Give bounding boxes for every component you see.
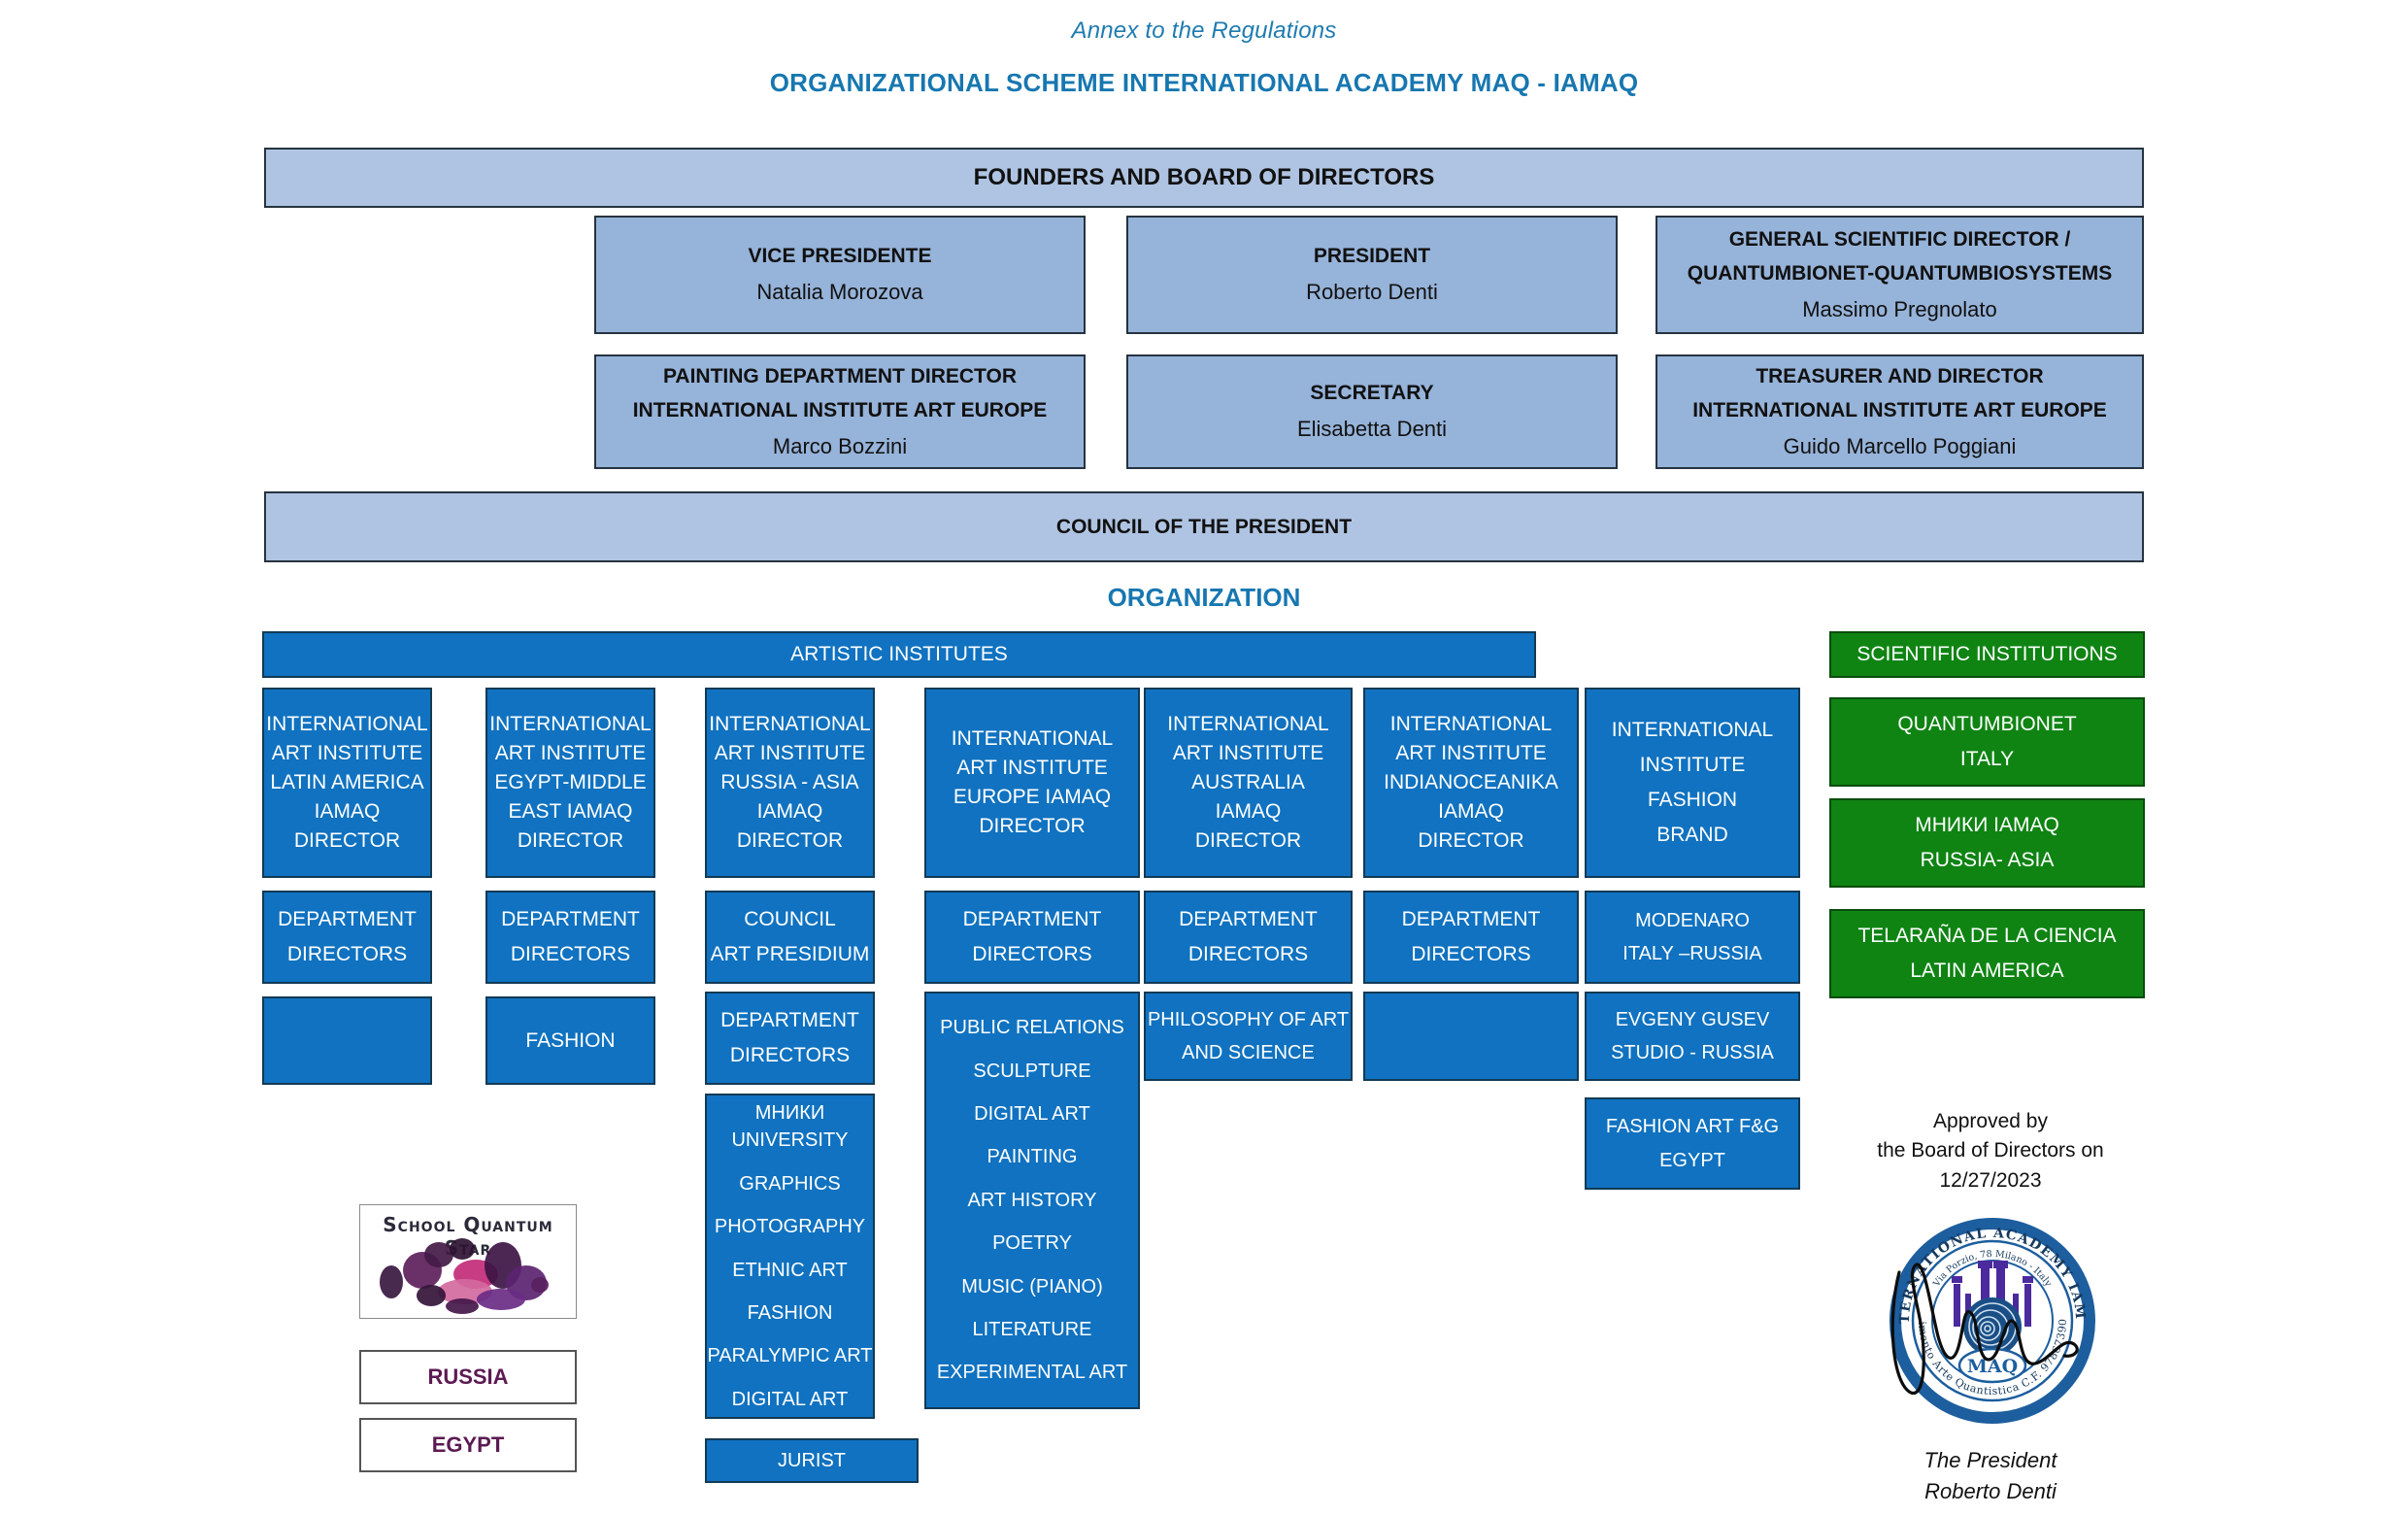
board-member-box[interactable]: PRESIDENT Roberto Denti — [1126, 216, 1618, 334]
role-line-1: PRESIDENT — [1128, 242, 1616, 271]
logo-blob — [531, 1277, 549, 1293]
president-label: The President — [1835, 1445, 2146, 1476]
role-line-1: SECRETARY — [1128, 379, 1616, 408]
empty-card[interactable] — [1363, 992, 1579, 1081]
evgeny-gusev-card[interactable]: EVGENY GUSEV STUDIO - RUSSIA — [1585, 992, 1800, 1081]
org-chart-page: Annex to the Regulations ORGANIZATIONAL … — [0, 0, 2408, 1516]
annex-subtitle: Annex to the Regulations — [0, 17, 2408, 45]
country-card-russia[interactable]: RUSSIA — [359, 1350, 577, 1404]
disciplines-card[interactable]: PUBLIC RELATIONS SCULPTURE DIGITAL ART P… — [924, 992, 1140, 1409]
scientific-card[interactable]: QUANTUMBIONET ITALY — [1829, 697, 2145, 787]
role-line-2: INTERNATIONAL INSTITUTE ART EUROPE — [596, 396, 1084, 425]
institute-card[interactable]: INTERNATIONAL ART INSTITUTE AUSTRALIA IA… — [1144, 688, 1353, 878]
school-quantum-star-logo: School Quantum Star — [359, 1204, 577, 1319]
person-name: Roberto Denti — [1128, 277, 1616, 307]
scientific-card[interactable]: МНИКИ IAMAQ RUSSIA- ASIA — [1829, 798, 2145, 888]
department-directors-card[interactable]: DEPARTMENT DIRECTORS — [705, 992, 875, 1085]
approval-date: 12/27/2023 — [1835, 1166, 2146, 1196]
person-name: Natalia Morozova — [596, 277, 1084, 307]
scientific-card[interactable]: TELARAÑA DE LA CIENCIA LATIN AMERICA — [1829, 909, 2145, 998]
logo-blob — [380, 1265, 403, 1298]
department-directors-card[interactable]: DEPARTMENT DIRECTORS — [924, 891, 1140, 984]
council-art-presidium-card[interactable]: COUNCIL ART PRESIDIUM — [705, 891, 875, 984]
page-title: ORGANIZATIONAL SCHEME INTERNATIONAL ACAD… — [0, 68, 2408, 98]
artistic-institutes-banner: ARTISTIC INSTITUTES — [262, 631, 1536, 678]
modenaro-card[interactable]: MODENARO ITALY –RUSSIA — [1585, 891, 1800, 984]
role-line-1: VICE PRESIDENTE — [596, 242, 1084, 271]
board-member-box[interactable]: SECRETARY Elisabetta Denti — [1126, 354, 1618, 469]
empty-card[interactable] — [262, 996, 432, 1085]
jurist-card[interactable]: JURIST — [705, 1438, 919, 1483]
logo-blob — [477, 1289, 525, 1310]
organization-label: ORGANIZATION — [0, 583, 2408, 613]
role-line-2: INTERNATIONAL INSTITUTE ART EUROPE — [1657, 396, 2142, 425]
department-directors-card[interactable]: DEPARTMENT DIRECTORS — [1363, 891, 1579, 984]
department-directors-card[interactable]: DEPARTMENT DIRECTORS — [485, 891, 655, 984]
role-line-2: QUANTUMBIONET-QUANTUMBIOSYSTEMS — [1657, 259, 2142, 288]
institute-card[interactable]: INTERNATIONAL ART INSTITUTE EUROPE IAMAQ… — [924, 688, 1140, 878]
approval-line-2: the Board of Directors on — [1835, 1136, 2146, 1165]
approval-block: Approved by the Board of Directors on 12… — [1835, 1107, 2146, 1496]
role-line-1: GENERAL SCIENTIFIC DIRECTOR / — [1657, 225, 2142, 254]
president-signature-text: The President Roberto Denti — [1835, 1445, 2146, 1507]
institute-card[interactable]: INTERNATIONAL ART INSTITUTE RUSSIA - ASI… — [705, 688, 875, 878]
role-line-1: TREASURER AND DIRECTOR — [1657, 362, 2142, 391]
board-member-box[interactable]: PAINTING DEPARTMENT DIRECTOR INTERNATION… — [594, 354, 1086, 469]
person-name: Guido Marcello Poggiani — [1657, 431, 2142, 461]
country-card-egypt[interactable]: EGYPT — [359, 1418, 577, 1472]
board-member-box[interactable]: VICE PRESIDENTE Natalia Morozova — [594, 216, 1086, 334]
approval-line-1: Approved by — [1835, 1107, 2146, 1136]
mniki-university-card[interactable]: МНИКИ UNIVERSITY GRAPHICS PHOTOGRAPHY ET… — [705, 1094, 875, 1419]
logo-blob — [417, 1285, 446, 1306]
person-name: Massimo Pregnolato — [1657, 294, 2142, 324]
person-name: Marco Bozzini — [596, 431, 1084, 461]
institute-card[interactable]: INTERNATIONAL INSTITUTE FASHION BRAND — [1585, 688, 1800, 878]
scientific-institutions-banner: SCIENTIFIC INSTITUTIONS — [1829, 631, 2145, 678]
fashion-art-fg-card[interactable]: FASHION ART F&G EGYPT — [1585, 1097, 1800, 1190]
philosophy-card[interactable]: PHILOSOPHY OF ART AND SCIENCE — [1144, 992, 1353, 1081]
logo-blob — [446, 1298, 479, 1314]
fashion-card[interactable]: FASHION — [485, 996, 655, 1085]
board-member-box[interactable]: TREASURER AND DIRECTOR INTERNATIONAL INS… — [1655, 354, 2144, 469]
logo-blob — [450, 1238, 475, 1260]
role-line-1: PAINTING DEPARTMENT DIRECTOR — [596, 362, 1084, 391]
institute-card[interactable]: INTERNATIONAL ART INSTITUTE LATIN AMERIC… — [262, 688, 432, 878]
institute-card[interactable]: INTERNATIONAL ART INSTITUTE EGYPT-MIDDLE… — [485, 688, 655, 878]
department-directors-card[interactable]: DEPARTMENT DIRECTORS — [262, 891, 432, 984]
board-member-box[interactable]: GENERAL SCIENTIFIC DIRECTOR / QUANTUMBIO… — [1655, 216, 2144, 334]
institute-card[interactable]: INTERNATIONAL ART INSTITUTE INDIANOCEANI… — [1363, 688, 1579, 878]
president-name: Roberto Denti — [1835, 1476, 2146, 1507]
council-banner: COUNCIL OF THE PRESIDENT — [264, 491, 2144, 562]
department-directors-card[interactable]: DEPARTMENT DIRECTORS — [1144, 891, 1353, 984]
person-name: Elisabetta Denti — [1128, 414, 1616, 444]
approval-text: Approved by the Board of Directors on 12… — [1835, 1107, 2146, 1196]
founders-banner: FOUNDERS AND BOARD OF DIRECTORS — [264, 148, 2144, 208]
iamaq-seal: INTERNATIONAL ACADEMY IAMAQ Via Porzio, … — [1884, 1212, 2101, 1430]
